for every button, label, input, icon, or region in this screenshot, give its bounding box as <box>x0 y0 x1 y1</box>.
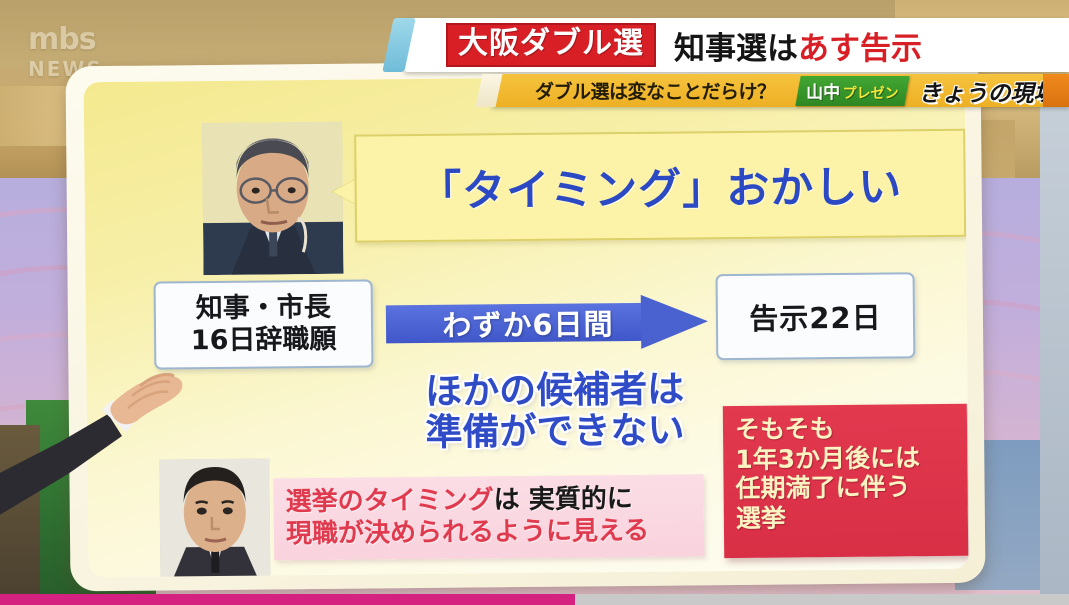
presenter-badge-name: 山中 <box>806 78 840 103</box>
red-callout-line4: 選挙 <box>736 501 968 533</box>
headline-title: 知事選はあす告示 <box>674 23 922 68</box>
presenter-badge-word: プレゼン <box>842 83 898 103</box>
main-statement-line1: ほかの候補者は <box>384 368 724 413</box>
flow-left-box-line2: 16日辞職願 <box>191 324 337 357</box>
subheadline-bar: ダブル選は変なことだらけ？ 山中 プレゼン きょうの現場 <box>492 74 1069 107</box>
flow-arrow-label: わずか6日間 <box>408 303 648 343</box>
commentator-photo-top-image <box>202 122 343 275</box>
headline-title-highlight: あす告示 <box>798 31 922 67</box>
red-callout: そもそも 1年3か月後には 任期満了に伴う 選挙 <box>723 404 968 558</box>
pink-quote-line2: 現職が決められるように見える <box>286 515 704 551</box>
pink-quote-line2-red: 現職が決められるように見える <box>286 516 650 549</box>
speech-bubble: 「タイミング」おかしい <box>354 129 966 243</box>
speech-bubble-text: 「タイミング」おかしい <box>418 152 903 219</box>
segment-title: きょうの現場 <box>919 74 1057 108</box>
headline-title-main: 知事選は <box>674 31 798 67</box>
subheadline-bar-end-cap <box>1043 74 1069 107</box>
main-statement-line2: 準備ができない <box>385 410 725 455</box>
red-callout-line1: そもそも <box>735 413 967 445</box>
pink-quote-line1: 選挙のタイミングは 実質的に <box>286 484 704 520</box>
flow-arrow-head-icon <box>641 294 709 349</box>
flow-arrow: わずか6日間 <box>386 294 709 351</box>
commentator-photo-top <box>202 122 343 275</box>
flow-left-box: 知事・市長 16日辞職願 <box>154 279 374 369</box>
flow-right-box: 告示22日 <box>716 272 916 360</box>
flow-right-box-line1: 告示22日 <box>749 295 882 338</box>
main-statement: ほかの候補者は 準備ができない <box>384 368 725 454</box>
progress-bar-track[interactable] <box>0 594 1069 605</box>
broadcast-screen: mbs NEWS <box>0 0 1069 605</box>
headline-badge: 大阪ダブル選 <box>446 23 656 67</box>
presenter-arm <box>0 370 190 605</box>
red-callout-line3: 任期満了に伴う <box>735 472 967 504</box>
presentation-board: 「タイミング」おかしい 知事・市長 16日辞職願 わずか6日間 告示22日 ほか… <box>66 58 986 592</box>
pink-quote-line1-red: 選挙のタイミング <box>286 486 494 518</box>
flow-left-box-line1: 知事・市長 <box>196 292 331 325</box>
pink-quote-box: 選挙のタイミングは 実質的に 現職が決められるように見える <box>273 474 704 560</box>
subheadline-question: ダブル選は変なことだらけ？ <box>535 77 776 104</box>
pink-quote-line1-black: は 実質的に <box>494 484 633 515</box>
studio-right-edge-strip <box>1040 100 1069 605</box>
red-callout-line2: 1年3か月後には <box>735 442 967 474</box>
progress-bar-fill <box>0 594 575 605</box>
headline-banner: 大阪ダブル選 知事選はあす告示 <box>404 18 1069 72</box>
presenter-badge: 山中 プレゼン <box>795 76 909 106</box>
presentation-board-inner: 「タイミング」おかしい 知事・市長 16日辞職願 わずか6日間 告示22日 ほか… <box>84 74 970 577</box>
